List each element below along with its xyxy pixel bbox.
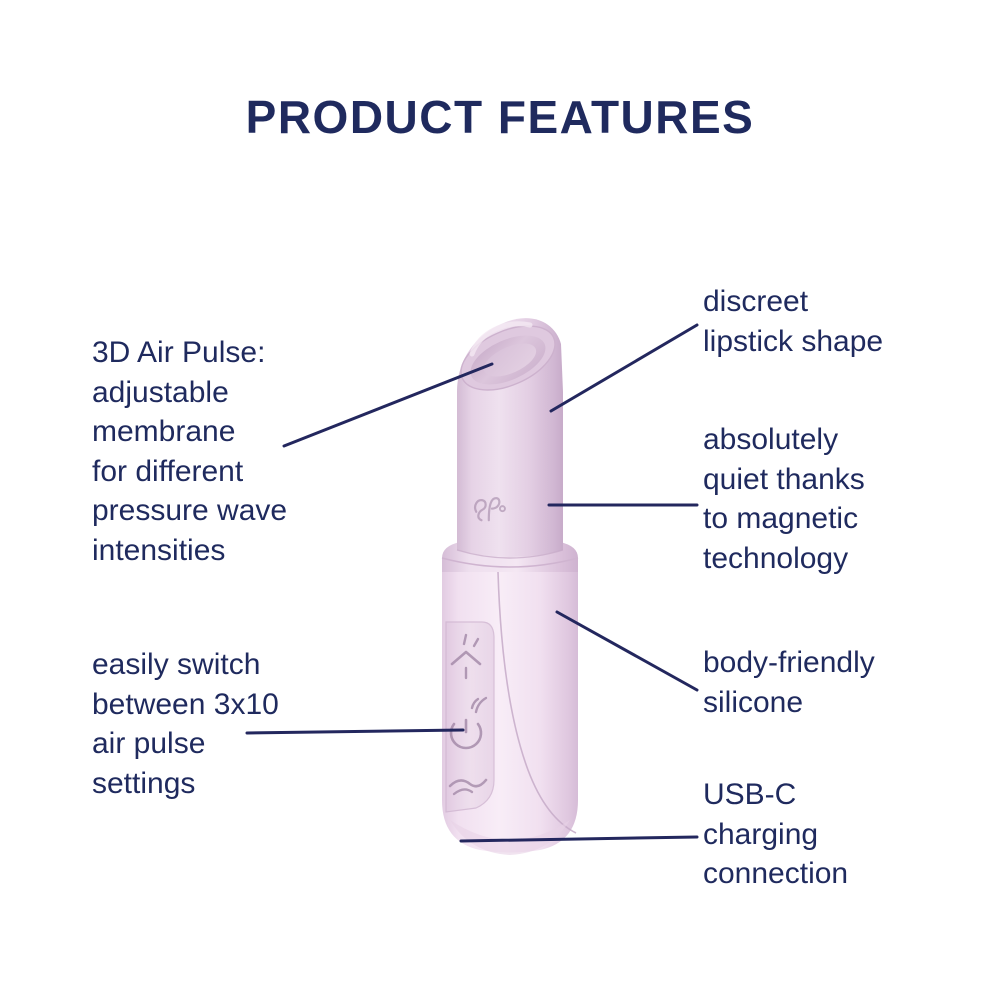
page-title: PRODUCT FEATURES	[0, 90, 1000, 144]
product-svg	[420, 300, 600, 860]
product-features-infographic: PRODUCT FEATURES	[0, 0, 1000, 1000]
product-upper-body	[457, 392, 563, 558]
callout-usbc: USB-C charging connection	[703, 775, 958, 894]
product-illustration	[420, 300, 600, 860]
control-panel[interactable]	[446, 622, 494, 812]
product-top-opening	[451, 313, 564, 403]
upper-body-shape	[457, 392, 563, 557]
callout-silicone: body-friendly silicone	[703, 643, 958, 722]
callout-lipstick: discreet lipstick shape	[703, 282, 953, 361]
callout-quiet: absolutely quiet thanks to magnetic tech…	[703, 420, 958, 578]
callout-air-pulse: 3D Air Pulse: adjustable membrane for di…	[92, 333, 357, 571]
callout-switch: easily switch between 3x10 air pulse set…	[92, 645, 357, 803]
